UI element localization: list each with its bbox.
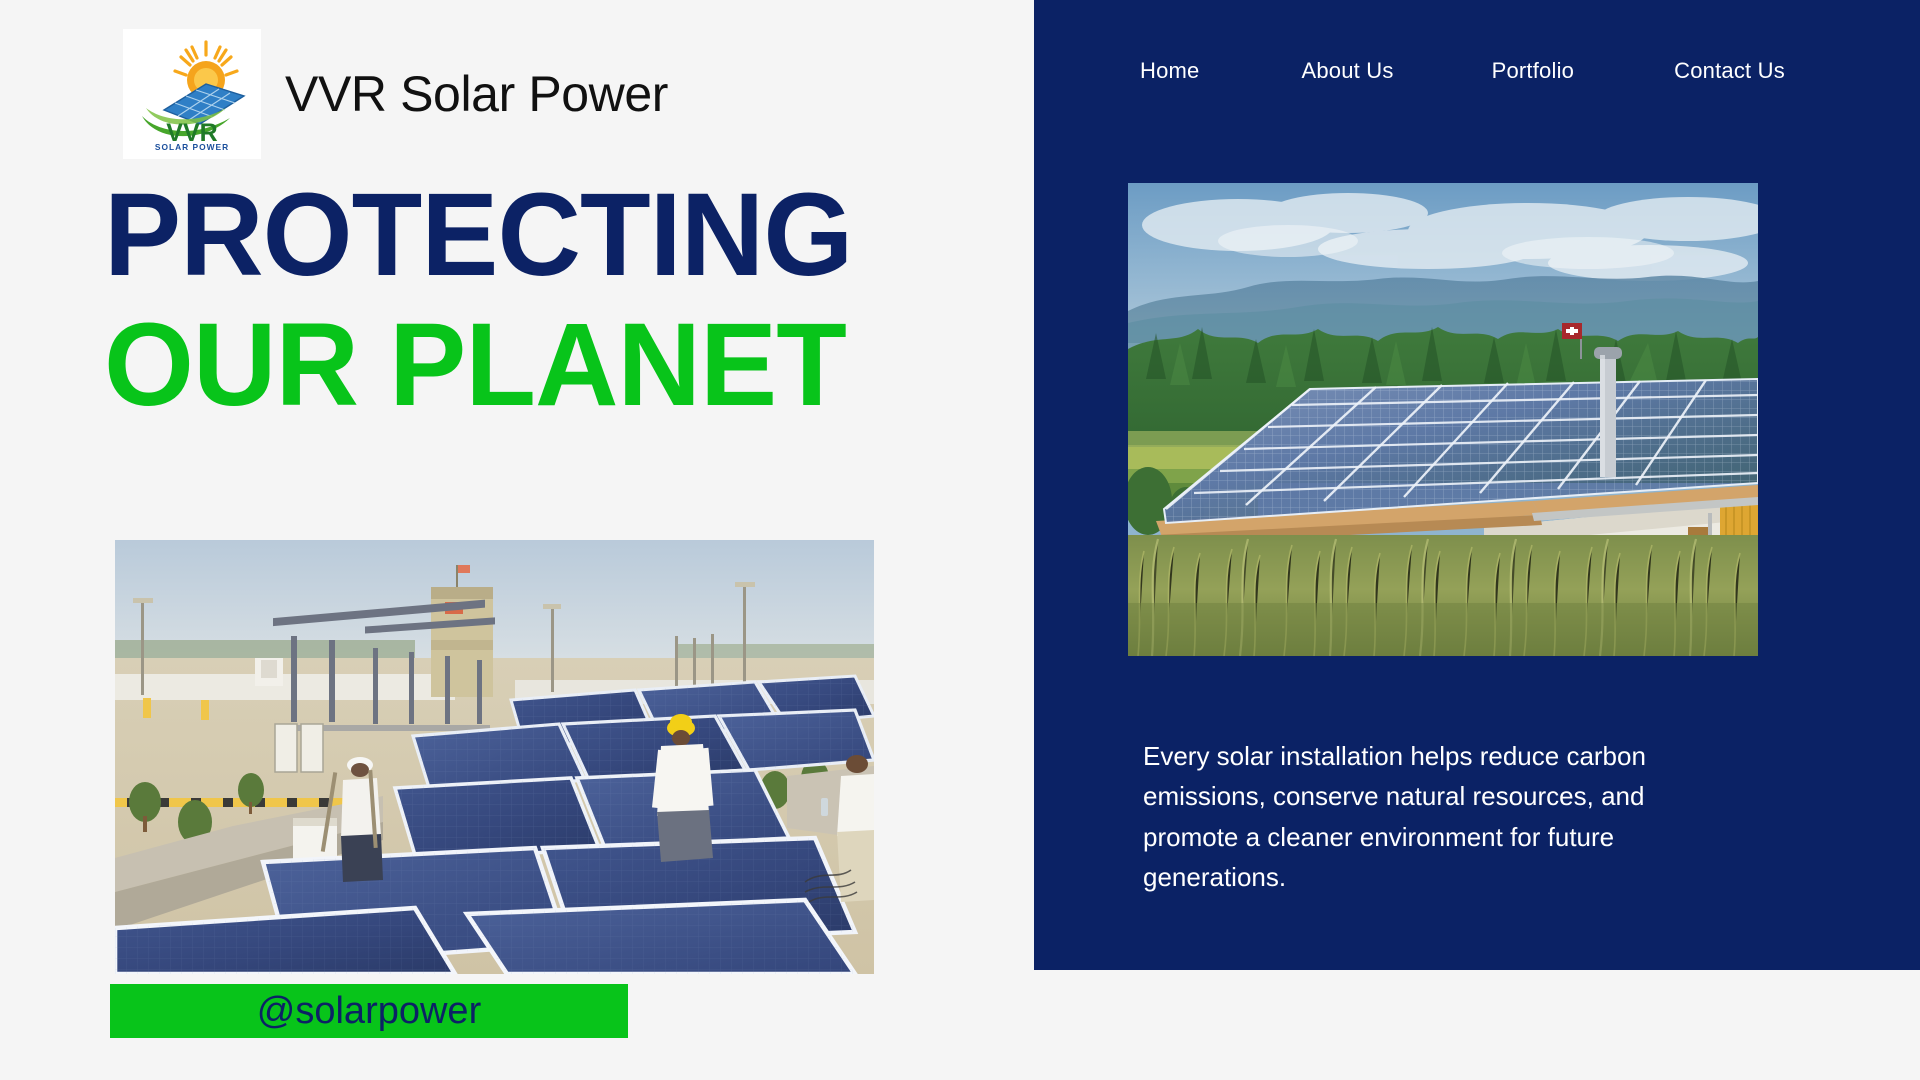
solar-panel-sun-logo-icon: VVR SOLAR POWER bbox=[134, 38, 250, 150]
social-handle-bar[interactable]: @solarpower bbox=[110, 984, 628, 1038]
poster-root: Home About Us Portfolio Contact Us bbox=[0, 0, 1920, 1080]
logo-box: VVR SOLAR POWER bbox=[123, 29, 261, 159]
hero-headline-line-2: OUR PLANET bbox=[104, 308, 966, 424]
brand-name: VVR Solar Power bbox=[285, 65, 668, 123]
farmhouse-rooftop-solar-panels-photo bbox=[1128, 183, 1758, 656]
logo-tagline: SOLAR POWER bbox=[155, 142, 229, 150]
rooftop-solar-installation-workers-photo bbox=[115, 540, 874, 974]
hero-headline-line-1: PROTECTING bbox=[104, 178, 966, 294]
main-navigation: Home About Us Portfolio Contact Us bbox=[1034, 58, 1920, 84]
nav-item-portfolio[interactable]: Portfolio bbox=[1492, 58, 1575, 84]
brand-header[interactable]: VVR SOLAR POWER VVR Solar Power bbox=[123, 29, 668, 159]
hero-headline: PROTECTING OUR PLANET bbox=[104, 178, 984, 423]
nav-item-contact-us[interactable]: Contact Us bbox=[1674, 58, 1785, 84]
nav-item-home[interactable]: Home bbox=[1140, 58, 1200, 84]
worker-right bbox=[837, 755, 874, 902]
body-paragraph: Every solar installation helps reduce ca… bbox=[1143, 736, 1683, 897]
nav-item-about-us[interactable]: About Us bbox=[1302, 58, 1394, 84]
social-handle-text: @solarpower bbox=[257, 990, 481, 1033]
